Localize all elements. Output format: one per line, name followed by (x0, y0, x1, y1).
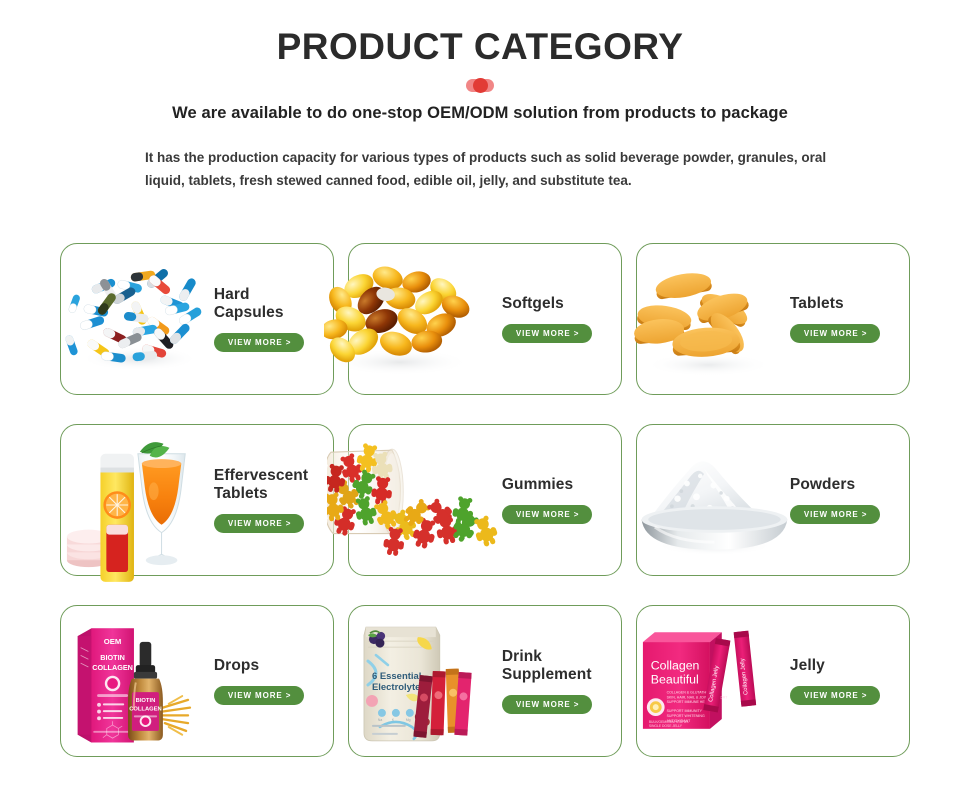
category-card-powders[interactable]: Powders VIEW MORE > (636, 424, 910, 576)
view-more-button[interactable]: VIEW MORE > (214, 514, 304, 533)
category-card-jelly[interactable]: Collagen Beautiful COLLAGEN & GLUTATHION… (636, 605, 910, 757)
card-title: Softgels (502, 295, 564, 313)
view-more-button[interactable]: VIEW MORE > (502, 324, 592, 343)
card-title: Effervescent Tablets (214, 467, 308, 504)
svg-text:Collagen: Collagen (651, 659, 700, 673)
jelly-image: Collagen Beautiful COLLAGEN & GLUTATHION… (637, 606, 795, 756)
view-more-button[interactable]: VIEW MORE > (214, 686, 304, 705)
svg-text:BIOTIN: BIOTIN (101, 653, 126, 662)
svg-text:SINGLE DOSE JELLY: SINGLE DOSE JELLY (649, 724, 683, 728)
card-title: Drops (214, 657, 259, 675)
tablets-image (637, 244, 795, 394)
svg-text:Beautiful: Beautiful (651, 672, 699, 686)
view-more-button[interactable]: VIEW MORE > (790, 686, 880, 705)
category-card-effervescent-tablets[interactable]: Effervescent Tablets VIEW MORE > (60, 424, 334, 576)
card-title: Gummies (502, 476, 573, 494)
card-body: Drink Supplement VIEW MORE > (496, 606, 621, 756)
hard-capsules-image (61, 244, 219, 394)
card-body: Powders VIEW MORE > (784, 425, 909, 575)
card-title: Drink Supplement (502, 648, 592, 685)
powders-image (637, 425, 795, 575)
category-card-drink-supplement[interactable]: 6 Essential Electrolytes NaKMg (348, 605, 622, 757)
softgels-image (349, 244, 507, 394)
svg-text:SUPPORT IMMUNITY: SUPPORT IMMUNITY (667, 709, 703, 713)
card-body: Tablets VIEW MORE > (784, 244, 909, 394)
drink-supplement-image: 6 Essential Electrolytes NaKMg (349, 606, 507, 756)
page-subtitle: We are available to do one-stop OEM/ODM … (0, 104, 960, 123)
svg-text:COLLAGEN: COLLAGEN (93, 663, 134, 672)
drops-image: OEM BIOTIN COLLAGEN (61, 606, 219, 756)
page-header: PRODUCT CATEGORY We are available to do … (0, 0, 960, 193)
view-more-button[interactable]: VIEW MORE > (502, 695, 592, 714)
svg-text:Mg: Mg (406, 718, 411, 722)
category-card-tablets[interactable]: Tablets VIEW MORE > (636, 243, 910, 395)
card-body: Drops VIEW MORE > (208, 606, 333, 756)
card-title: Hard Capsules (214, 286, 284, 323)
card-body: Jelly VIEW MORE > (784, 606, 909, 756)
view-more-button[interactable]: VIEW MORE > (790, 505, 880, 524)
category-card-drops[interactable]: OEM BIOTIN COLLAGEN (60, 605, 334, 757)
svg-text:OEM: OEM (104, 637, 122, 646)
category-card-gummies[interactable]: Gummies VIEW MORE > (348, 424, 622, 576)
product-category-page: PRODUCT CATEGORY We are available to do … (0, 0, 960, 800)
card-body: Softgels VIEW MORE > (496, 244, 621, 394)
svg-text:6 Essential: 6 Essential (372, 671, 421, 682)
page-title: PRODUCT CATEGORY (0, 28, 960, 67)
view-more-button[interactable]: VIEW MORE > (790, 324, 880, 343)
card-title: Powders (790, 476, 855, 494)
card-body: Gummies VIEW MORE > (496, 425, 621, 575)
gummies-image (349, 425, 507, 575)
svg-text:Na: Na (378, 718, 382, 722)
card-title: Jelly (790, 657, 825, 675)
svg-text:Electrolytes: Electrolytes (372, 682, 426, 693)
divider-dot-icon (473, 78, 488, 93)
title-divider-ornament (0, 77, 960, 95)
svg-text:SUPPORT WHITENING: SUPPORT WHITENING (667, 714, 705, 718)
card-body: Effervescent Tablets VIEW MORE > (208, 425, 333, 575)
card-title: Tablets (790, 295, 844, 313)
view-more-button[interactable]: VIEW MORE > (502, 505, 592, 524)
view-more-button[interactable]: VIEW MORE > (214, 333, 304, 352)
page-description: It has the production capacity for vario… (117, 146, 843, 193)
category-card-hard-capsules[interactable]: Hard Capsules VIEW MORE > (60, 243, 334, 395)
product-category-grid: Hard Capsules VIEW MORE > (60, 243, 900, 757)
category-card-softgels[interactable]: Softgels VIEW MORE > (348, 243, 622, 395)
effervescent-tablets-image (61, 425, 219, 575)
card-body: Hard Capsules VIEW MORE > (208, 244, 333, 394)
svg-text:BIOTIN: BIOTIN (136, 698, 156, 704)
